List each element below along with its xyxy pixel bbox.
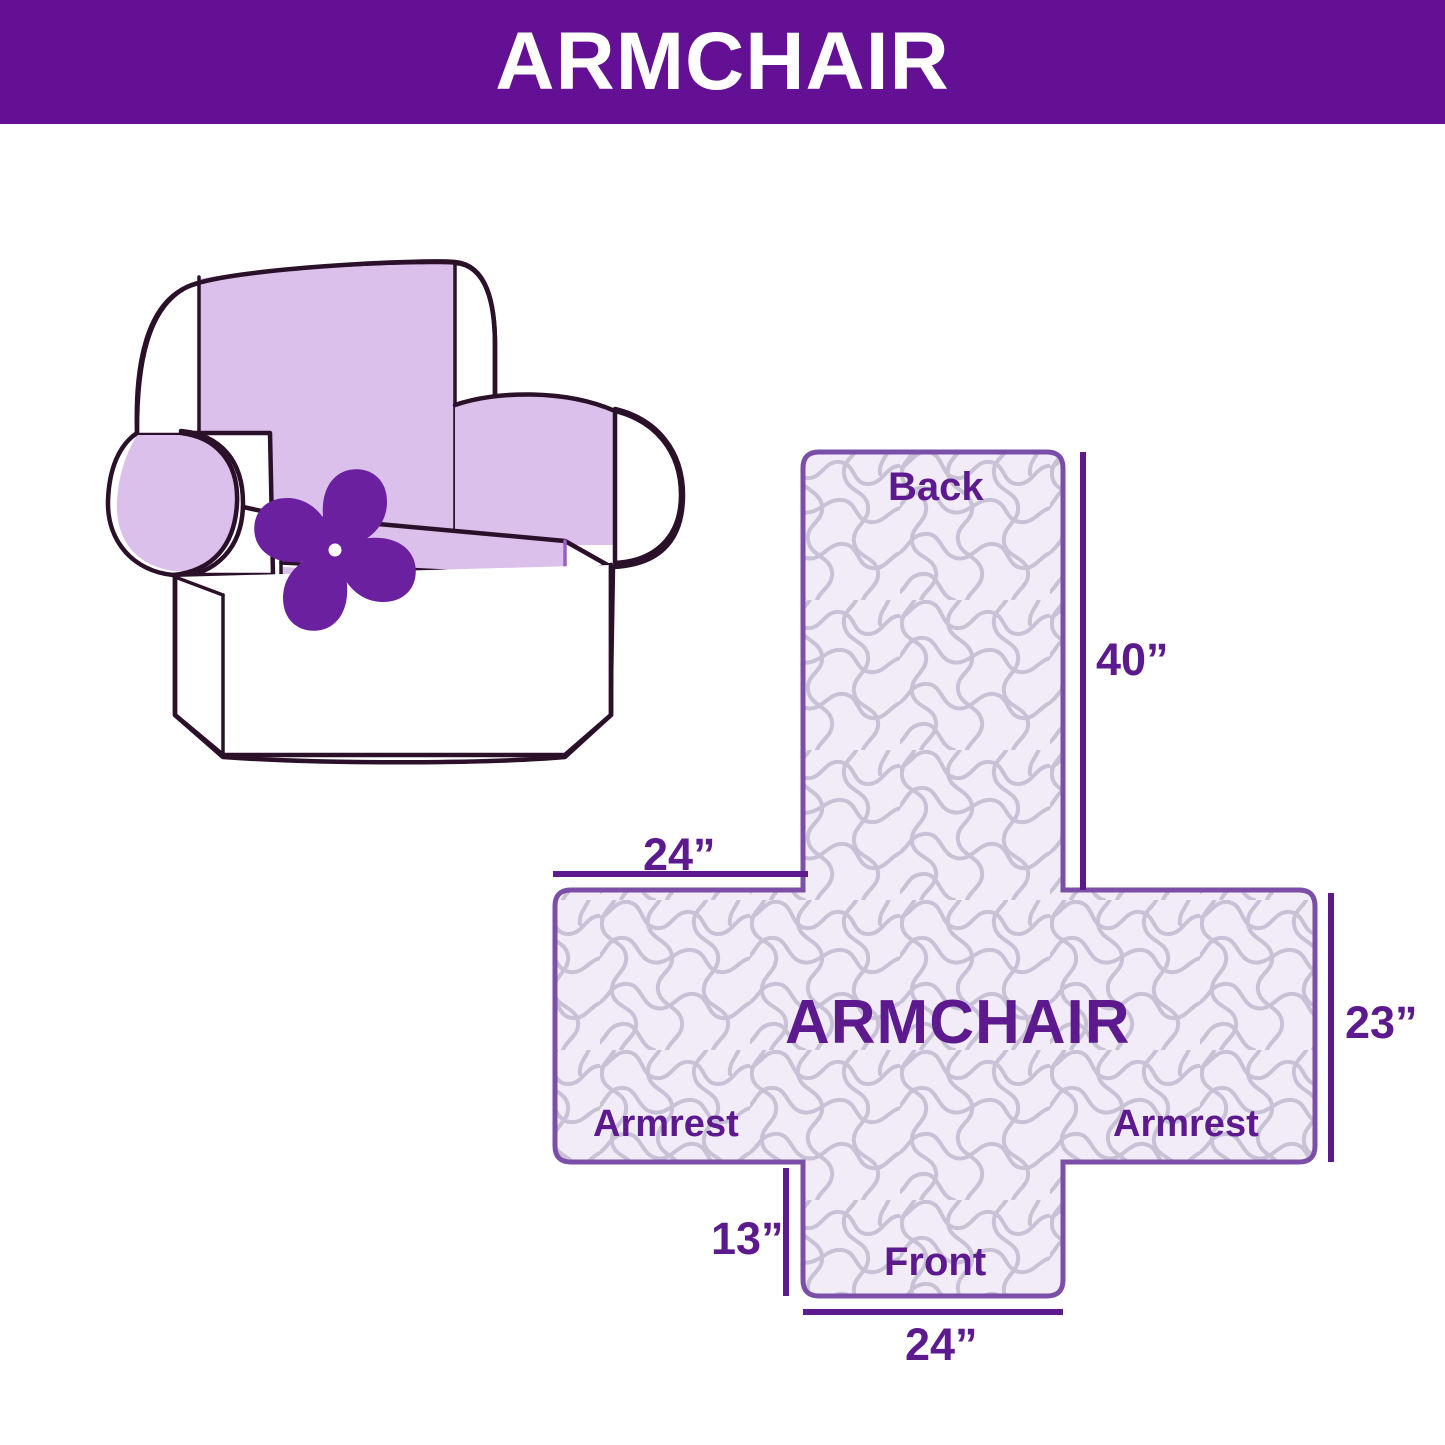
dimension-label-40in: 40” bbox=[1096, 637, 1169, 682]
dimension-label-23in: 23” bbox=[1345, 1000, 1418, 1045]
dimension-label-24in-top: 24” bbox=[643, 832, 716, 877]
dimension-label-13in: 13” bbox=[711, 1216, 784, 1261]
panel-label-back: Back bbox=[888, 467, 984, 507]
product-dimension-diagram-page: ARMCHAIR bbox=[0, 0, 1445, 1445]
panel-label-front: Front bbox=[884, 1242, 986, 1282]
panel-label-armrest-right: Armrest bbox=[1113, 1105, 1259, 1143]
slipcover-cross-diagram: 40” 23” 24” 24” 13” Back Front Armrest A… bbox=[0, 0, 1445, 1445]
panel-label-armrest-left: Armrest bbox=[593, 1105, 739, 1143]
diagram-center-label: ARMCHAIR bbox=[785, 992, 1131, 1054]
dimension-label-24in-bottom: 24” bbox=[905, 1322, 978, 1367]
